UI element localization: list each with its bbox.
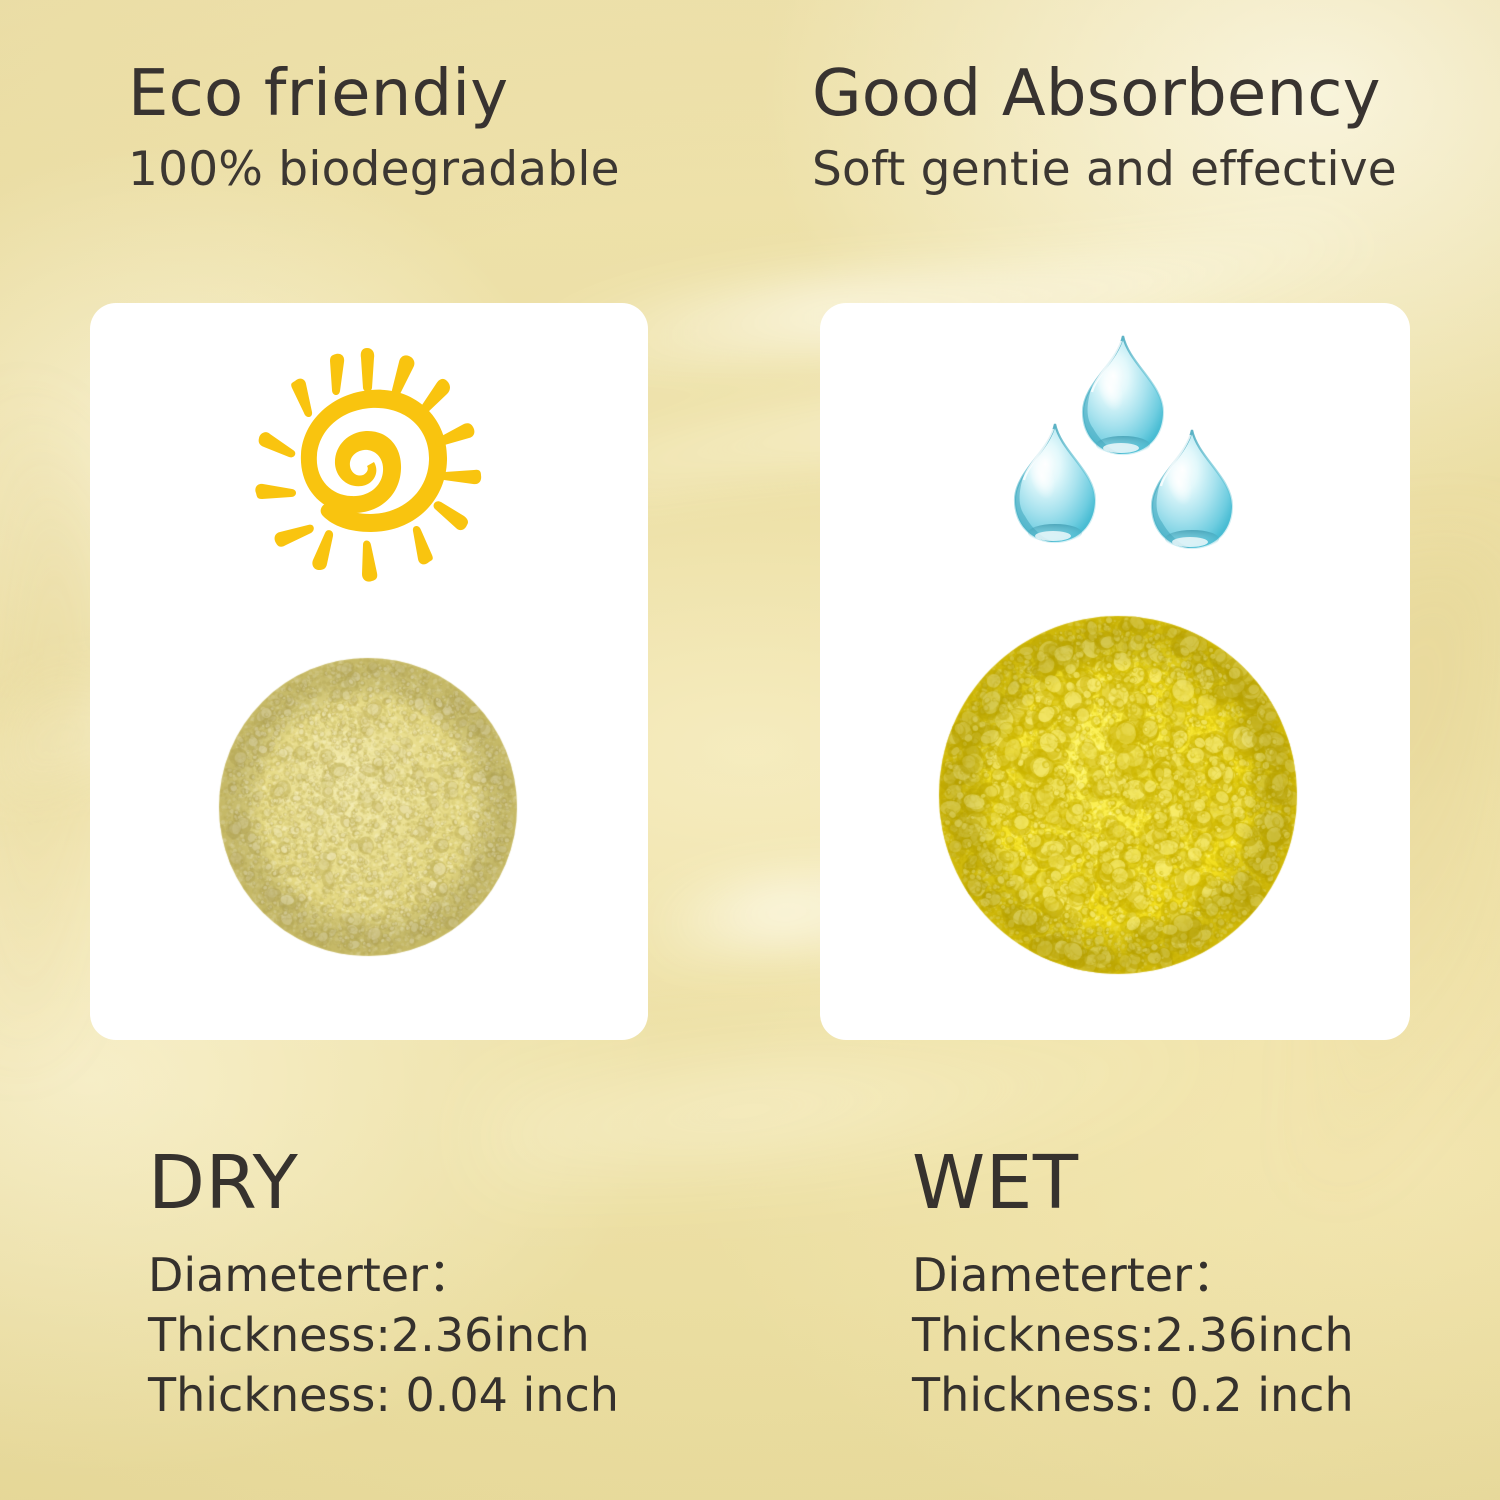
- sun-icon: [243, 342, 493, 592]
- infographic-page: Eco friendiy 100% biodegradable Good Abs…: [0, 0, 1500, 1500]
- spec-dry-line-diameter: Diameterter：: [148, 1246, 619, 1306]
- spec-wet: WET Diameterter： Thickness:2.36inch Thic…: [912, 1146, 1354, 1425]
- wet-sponge: [938, 615, 1298, 975]
- droplet-top: [1083, 336, 1163, 454]
- droplet-bottom-left: [1015, 424, 1095, 542]
- spec-dry-label: DRY: [148, 1146, 619, 1220]
- heading-dry-title: Eco friendiy: [128, 62, 620, 127]
- heading-wet: Good Absorbency Soft gentie and effectiv…: [812, 62, 1397, 195]
- droplet-bottom-right: [1152, 430, 1232, 548]
- heading-wet-subtitle: Soft gentie and effective: [812, 145, 1397, 194]
- spec-dry-line-thickness: Thickness: 0.04 inch: [148, 1366, 619, 1426]
- heading-wet-title: Good Absorbency: [812, 62, 1397, 127]
- heading-dry-subtitle: 100% biodegradable: [128, 145, 620, 194]
- heading-dry: Eco friendiy 100% biodegradable: [128, 62, 620, 195]
- spec-dry-lines: Diameterter： Thickness:2.36inch Thicknes…: [148, 1246, 619, 1425]
- spec-wet-line-size: Thickness:2.36inch: [912, 1306, 1354, 1366]
- spec-dry-line-size: Thickness:2.36inch: [148, 1306, 619, 1366]
- spec-wet-lines: Diameterter： Thickness:2.36inch Thicknes…: [912, 1246, 1354, 1425]
- spec-wet-line-thickness: Thickness: 0.2 inch: [912, 1366, 1354, 1426]
- spec-dry: DRY Diameterter： Thickness:2.36inch Thic…: [148, 1146, 619, 1425]
- spec-wet-label: WET: [912, 1146, 1354, 1220]
- dry-sponge: [218, 657, 518, 957]
- water-droplets-icon: [992, 332, 1254, 570]
- spec-wet-line-diameter: Diameterter：: [912, 1246, 1354, 1306]
